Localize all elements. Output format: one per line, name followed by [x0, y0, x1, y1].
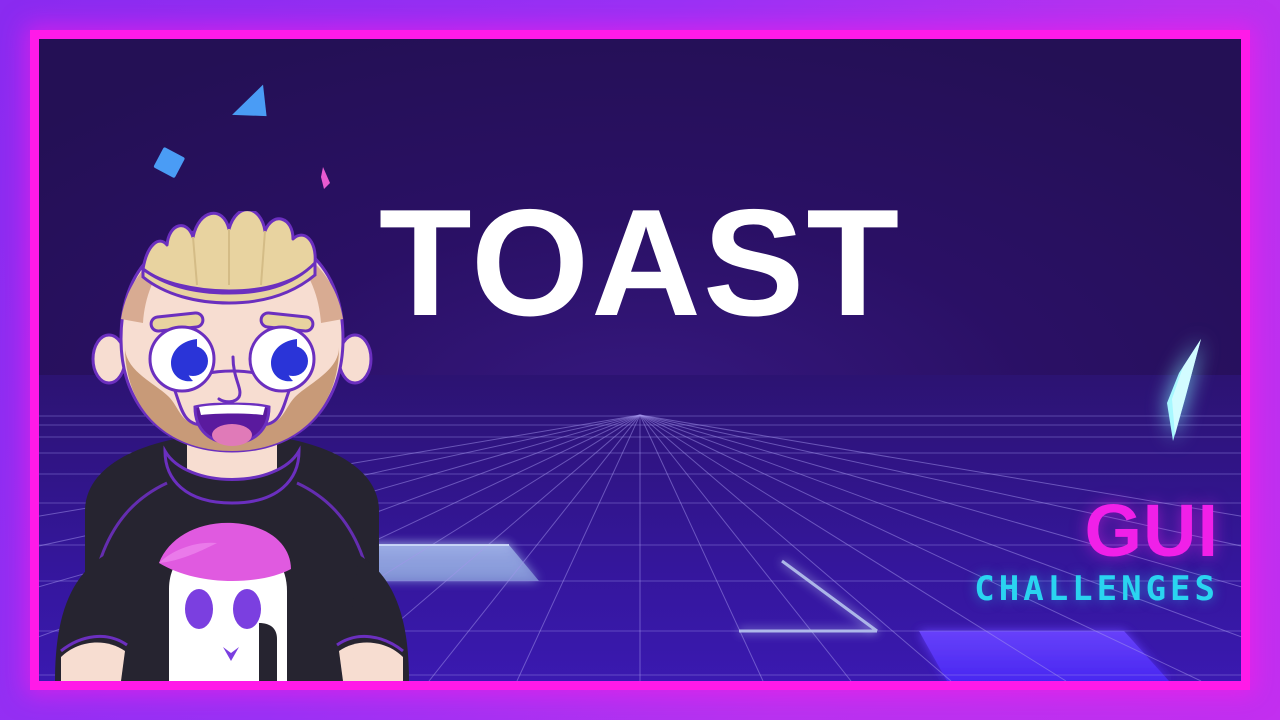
eye-right — [250, 327, 314, 391]
skull-socket-right — [233, 589, 261, 629]
confetti-triangle-blue-1 — [225, 79, 285, 129]
brand-lockup: GUI CHALLENGES — [974, 497, 1219, 609]
host-character-illustration — [47, 211, 417, 681]
cyan-light-shard — [1139, 329, 1239, 459]
brand-secondary-text: CHALLENGES — [974, 569, 1219, 609]
confetti-square-blue — [145, 139, 195, 189]
brand-primary-text: GUI — [974, 497, 1219, 565]
hair — [143, 211, 315, 291]
shirt-logo-skull — [159, 523, 291, 681]
thumbnail-screen: TOAST GUI CHALLENGES — [39, 39, 1241, 681]
eye-left — [150, 327, 214, 391]
video-thumbnail: TOAST GUI CHALLENGES — [0, 0, 1280, 720]
skull-socket-left — [185, 589, 213, 629]
